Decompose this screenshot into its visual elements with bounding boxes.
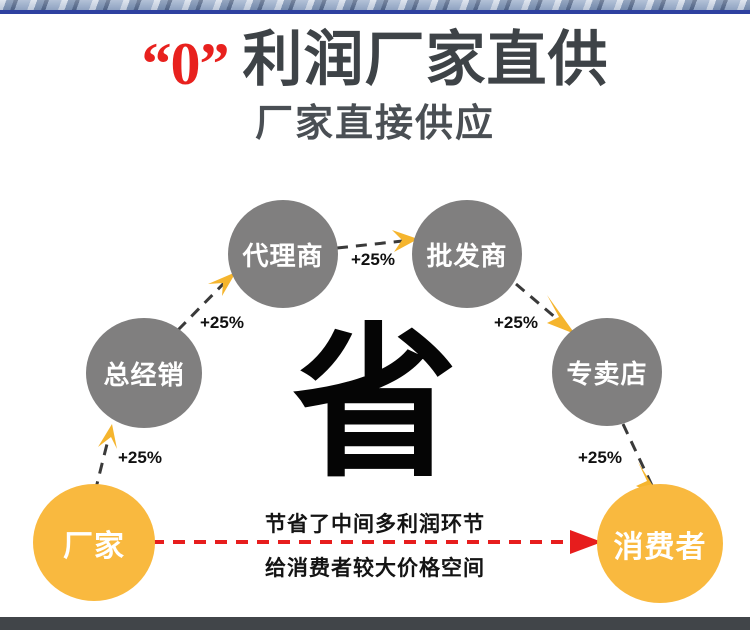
bottom-footer-bar xyxy=(0,617,750,630)
savings-caption-line2: 给消费者较大价格空间 xyxy=(0,552,750,582)
node-pifashang[interactable]: 批发商 xyxy=(412,200,522,308)
savings-caption-line1: 节省了中间多利润环节 xyxy=(0,508,750,538)
center-big-glyph: 省 xyxy=(0,322,750,487)
promo-banner-page: “0”利润厂家直供 厂家直接供应 xyxy=(0,0,750,630)
node-changjia[interactable]: 厂家 xyxy=(33,484,155,601)
node-dailishang[interactable]: 代理商 xyxy=(228,200,338,308)
node-label-pifashang: 批发商 xyxy=(426,236,507,273)
node-label-dailishang: 代理商 xyxy=(242,236,323,273)
supply-chain-diagram: 总经销 代理商 批发商 专卖店 厂家 消费者 +25% +25% +25% +2… xyxy=(0,0,750,630)
percent-label-step3: +25% xyxy=(351,250,395,270)
node-xiaofeizhe[interactable]: 消费者 xyxy=(597,484,723,603)
edge-dailishang-to-pifashang xyxy=(337,230,418,252)
